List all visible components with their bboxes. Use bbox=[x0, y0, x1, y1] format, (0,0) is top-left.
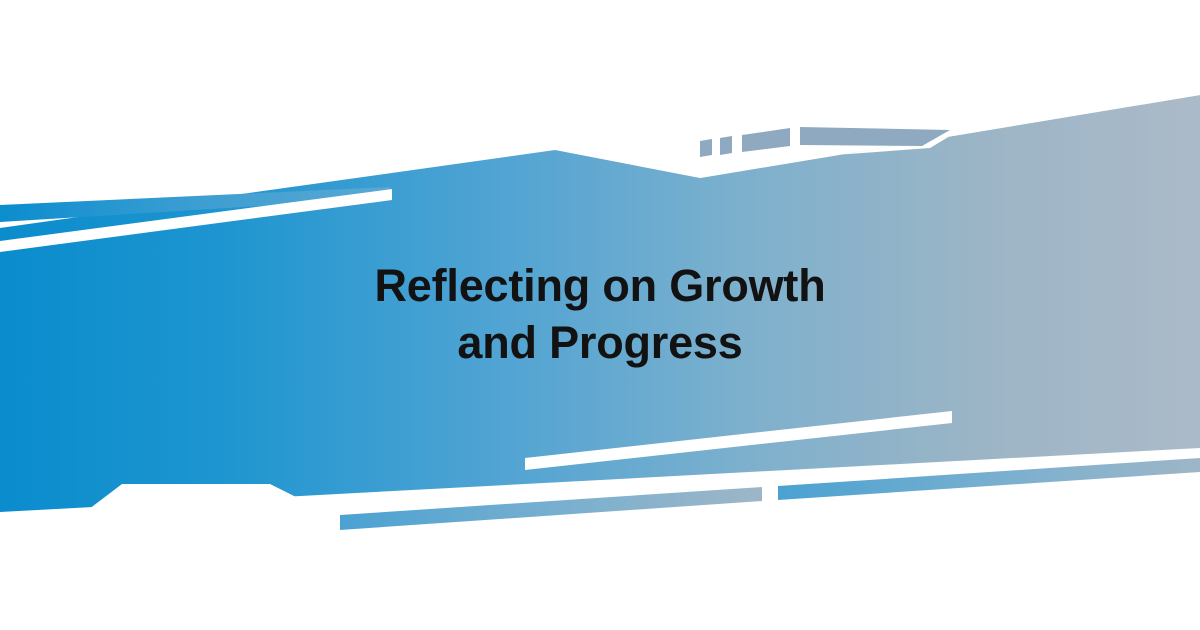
banner-graphic bbox=[0, 0, 1200, 630]
banner-canvas: Reflecting on Growth and Progress bbox=[0, 0, 1200, 630]
